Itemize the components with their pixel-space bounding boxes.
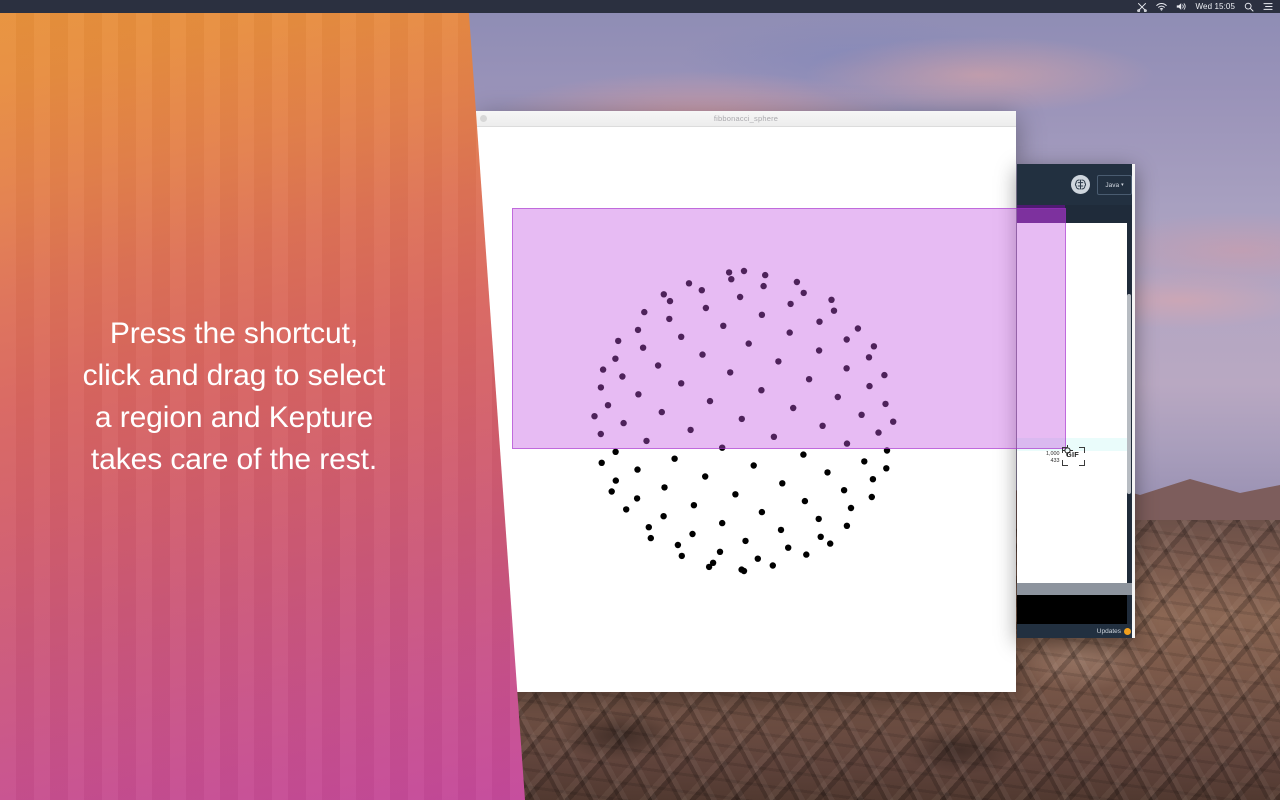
sphere-point [844,523,850,529]
sphere-point [779,480,785,486]
promo-text-block: Press the shortcut, click and drag to se… [0,0,468,800]
promo-copy: Press the shortcut, click and drag to se… [83,313,386,487]
ide-panel-splitter[interactable] [1017,583,1135,595]
promo-line-3: a region and Kepture [83,397,386,439]
sphere-point [623,506,629,512]
sphere-point [634,495,640,501]
menubar: Wed 15:05 [0,0,1280,13]
sphere-point [778,527,784,533]
sphere-point [759,509,765,515]
sphere-point [770,562,776,568]
sphere-point [755,556,761,562]
sphere-point [883,465,889,471]
capture-format-label[interactable]: GIF [1066,450,1079,459]
ide-toolbar: Java ▾ [1017,164,1135,205]
run-configuration-label: Java [1105,182,1119,189]
sphere-point [785,545,791,551]
sphere-point [861,458,867,464]
sphere-point [689,531,695,537]
sphere-point [719,520,725,526]
sphere-point [612,449,618,455]
sphere-point [634,466,640,472]
sphere-point [717,549,723,555]
ide-console-output [1017,595,1127,624]
sphere-point [818,534,824,540]
sphere-point [827,540,833,546]
run-configuration-selector[interactable]: Java ▾ [1097,175,1132,195]
desktop-screen: Wed 15:05 [0,0,1280,800]
selection-width: 1,000 [1046,451,1060,458]
promo-panel: Press the shortcut, click and drag to se… [0,0,540,800]
updates-label[interactable]: Updates [1097,628,1121,635]
sphere-point [706,564,712,570]
search-icon[interactable] [1244,0,1254,13]
sphere-point [742,538,748,544]
wifi-icon[interactable] [1156,0,1167,13]
sphere-point [613,477,619,483]
volume-icon[interactable] [1176,0,1187,13]
artwork-window-titlebar[interactable]: fibbonacci_sphere [476,111,1016,127]
chevron-down-icon: ▾ [1121,183,1124,188]
kepture-scissors-icon[interactable] [1137,0,1147,13]
sphere-point [661,484,667,490]
sphere-point [679,553,685,559]
sphere-point [802,498,808,504]
capture-bracket-bottom-left [1062,460,1068,466]
sphere-point [599,460,605,466]
sphere-point [816,516,822,522]
sphere-point [841,487,847,493]
sphere-point [732,491,738,497]
sphere-point [660,513,666,519]
screenshot-selection-region[interactable] [512,208,1066,449]
menubar-clock[interactable]: Wed 15:05 [1196,0,1235,13]
ide-editor-scrollbar[interactable] [1127,294,1131,494]
sphere-point [869,494,875,500]
ide-status-bar: Updates [1017,624,1135,638]
brain-icon[interactable] [1071,175,1090,194]
promo-line-2: click and drag to select [83,355,386,397]
sphere-point [870,476,876,482]
sphere-point [675,542,681,548]
selection-dimensions: 1,000 433 [1046,451,1060,465]
promo-line-1: Press the shortcut, [83,313,386,355]
ide-window-right-edge [1132,164,1135,638]
capture-bracket-bottom-right [1079,460,1085,466]
promo-line-4: takes care of the rest. [83,439,386,481]
sphere-point [609,488,615,494]
artwork-window-title: fibbonacci_sphere [476,111,1016,126]
sphere-point [671,456,677,462]
sphere-point [741,568,747,574]
sphere-point [648,535,654,541]
sphere-point [691,502,697,508]
list-icon[interactable] [1263,0,1273,13]
selection-height: 433 [1046,458,1060,465]
sphere-point [824,469,830,475]
sphere-point [803,551,809,557]
sphere-point [702,473,708,479]
update-badge-icon[interactable] [1124,628,1131,635]
sphere-point [800,451,806,457]
capture-bracket-top-right [1079,447,1085,453]
sphere-point [751,462,757,468]
sphere-point [646,524,652,530]
sphere-point [848,505,854,511]
